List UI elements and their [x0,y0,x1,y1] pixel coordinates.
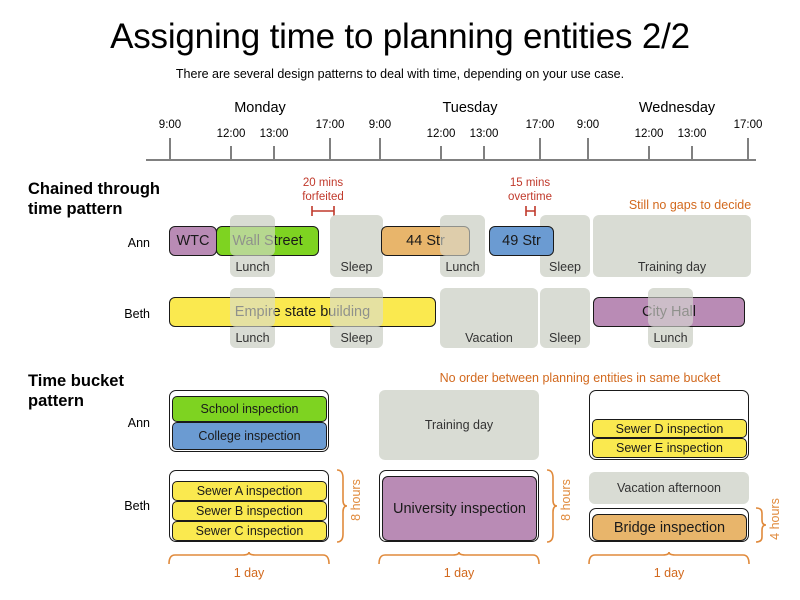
bucket-ann-day1[interactable]: School inspection College inspection [169,390,329,452]
task-block-school-inspection[interactable]: School inspection [172,396,327,422]
day-label-tuesday: Tuesday [410,100,530,116]
overtime-span-marker [524,204,538,218]
task-block-college-inspection[interactable]: College inspection [172,422,327,450]
capacity-label-3: 4 hours [768,487,782,551]
pin-training-day: Training day [593,215,751,277]
row-label-beth-chained: Beth [30,307,150,321]
pin-vacation-afternoon: Vacation afternoon [589,472,749,504]
tick-mark [329,138,331,160]
task-block-sewer-b-inspection[interactable]: Sewer B inspection [172,501,327,521]
bucket-beth-day3[interactable]: Bridge inspection [589,508,749,542]
day-label-brace-3: 1 day [587,566,751,581]
pin-sleep-overlay [330,288,383,327]
tick-mark [587,138,589,160]
capacity-label-2: 8 hours [559,468,573,532]
pin-sleep: Sleep [330,215,383,277]
pin-lunch-overlay [440,215,485,256]
day-label-brace-1: 1 day [167,566,331,581]
capacity-label-1: 8 hours [349,468,363,532]
pin-sleep: Sleep [540,288,590,348]
section-title-bucket-line1: Time bucket [28,371,124,391]
day-label-monday: Monday [200,100,320,116]
task-block-sewer-d-inspection[interactable]: Sewer D inspection [592,419,747,438]
tick-mark [379,138,381,160]
task-block-49-str[interactable]: 49 Str [489,226,554,256]
page-subtitle: There are several design patterns to dea… [0,66,800,82]
section-title-bucket-line2: pattern [28,391,84,411]
pin-training-day: Training day [379,390,539,460]
tick-label: 13:00 [662,128,722,140]
slide-canvas: Assigning time to planning entities 2/2 … [0,0,800,600]
capacity-brace-1-icon [334,468,348,544]
tick-label: 13:00 [454,128,514,140]
bucket-ann-day3[interactable]: Sewer D inspection Sewer E inspection [589,390,749,460]
tick-mark [539,138,541,160]
capacity-brace-3-icon [753,506,767,544]
task-block-university-inspection[interactable]: University inspection [382,476,537,541]
annotation-no-order: No order between planning entities in sa… [370,371,790,386]
tick-mark [648,146,650,160]
page-title: Assigning time to planning entities 2/2 [0,16,800,58]
annotation-overtime-line2: overtime [485,190,575,204]
annotation-overtime-line1: 15 mins [485,176,575,190]
annotation-no-gaps: Still no gaps to decide [600,198,780,213]
tick-mark [691,146,693,160]
row-label-ann-chained: Ann [30,236,150,250]
row-label-ann-bucket: Ann [30,416,150,430]
task-block-sewer-e-inspection[interactable]: Sewer E inspection [592,438,747,458]
capacity-brace-2-icon [544,468,558,544]
tick-label: 17:00 [718,119,778,131]
tick-mark [273,146,275,160]
task-block-sewer-a-inspection[interactable]: Sewer A inspection [172,481,327,501]
tick-mark [230,146,232,160]
pin-lunch-overlay [230,215,275,256]
tick-label: 9:00 [558,119,618,131]
section-title-chained-line2: time pattern [28,199,122,219]
tick-mark [747,138,749,160]
annotation-forfeited-line2: forfeited [278,190,368,204]
task-block-bridge-inspection[interactable]: Bridge inspection [592,514,747,541]
task-block-wtc[interactable]: WTC [169,226,217,256]
tick-label: 9:00 [350,119,410,131]
day-label-brace-2: 1 day [377,566,541,581]
task-block-sewer-c-inspection[interactable]: Sewer C inspection [172,521,327,541]
bucket-beth-day2[interactable]: University inspection [379,470,539,542]
pin-lunch-overlay [230,288,275,327]
tick-label: 13:00 [244,128,304,140]
bucket-beth-day1[interactable]: Sewer A inspection Sewer B inspection Se… [169,470,329,542]
annotation-forfeited-line1: 20 mins [278,176,368,190]
tick-mark [440,146,442,160]
task-block-empire-state-building[interactable]: Empire state building [169,297,436,327]
day-brace-3-icon [587,552,751,566]
axis-baseline [146,159,756,161]
day-label-wednesday: Wednesday [617,100,737,116]
pin-lunch-overlay [648,288,693,327]
section-title-chained-line1: Chained through [28,179,160,199]
pin-vacation: Vacation [440,288,538,348]
day-brace-2-icon [377,552,541,566]
tick-mark [169,138,171,160]
tick-mark [483,146,485,160]
tick-label: 9:00 [140,119,200,131]
row-label-beth-bucket: Beth [30,499,150,513]
day-brace-1-icon [167,552,331,566]
